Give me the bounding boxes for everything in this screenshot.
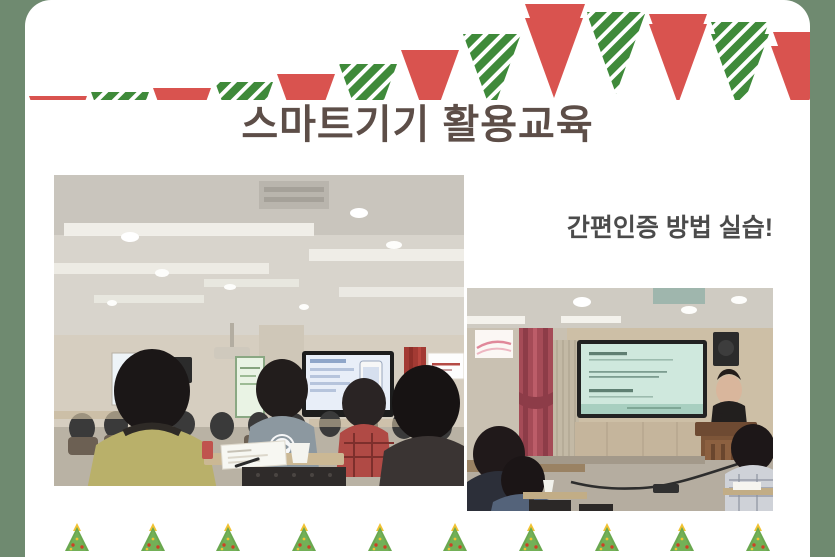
christmas-tree-icon [62, 521, 92, 553]
christmas-tree-icon [516, 521, 546, 553]
bunting-banner [25, 0, 810, 100]
poster-canvas: 스마트기기 활용교육 간편인증 방법 실습! [0, 0, 835, 557]
pennant-group [29, 12, 810, 100]
christmas-tree-icon [667, 521, 697, 553]
photo-presenter [464, 285, 776, 514]
christmas-tree-icon [213, 521, 243, 553]
christmas-tree-icon [289, 521, 319, 553]
christmas-tree-icon [365, 521, 395, 553]
christmas-tree-row [25, 521, 810, 557]
christmas-tree-icon [592, 521, 622, 553]
pennant-group-right [525, 4, 810, 100]
photo-lecture-hall [54, 175, 464, 486]
christmas-tree-icon [138, 521, 168, 553]
subtitle-text: 간편인증 방법 실습! [530, 208, 810, 244]
christmas-tree-icon [743, 521, 773, 553]
poster-card: 스마트기기 활용교육 간편인증 방법 실습! [25, 0, 810, 557]
page-title: 스마트기기 활용교육 [25, 92, 810, 150]
christmas-tree-icon [440, 521, 470, 553]
